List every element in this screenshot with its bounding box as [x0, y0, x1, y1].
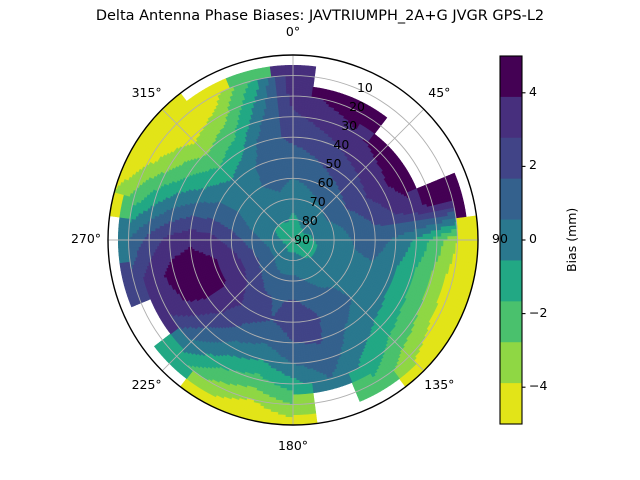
colorbar-tick-label-2: 0 [529, 231, 537, 246]
colorbar-tick-label-4: −4 [529, 378, 547, 393]
elevation-label-80: 80 [302, 213, 318, 228]
colorbar-band [500, 179, 522, 220]
elevation-label-20: 20 [349, 99, 365, 114]
figure-canvas: Delta Antenna Phase Biases: JAVTRIUMPH_2… [0, 0, 640, 480]
colorbar-band [500, 301, 522, 342]
azimuth-label-315: 315° [132, 85, 162, 100]
colorbar-band [500, 56, 522, 97]
colorbar-axis-title: Bias (mm) [564, 208, 579, 272]
azimuth-label-45: 45° [428, 85, 450, 100]
colorbar-tick-label-1: 2 [529, 157, 537, 172]
elevation-label-90: 90 [294, 232, 310, 247]
colorbar-band [500, 97, 522, 138]
azimuth-label-225: 225° [132, 377, 162, 392]
colorbar-band [500, 138, 522, 179]
elevation-label-60: 60 [318, 175, 334, 190]
elevation-label-50: 50 [326, 156, 342, 171]
page-title: Delta Antenna Phase Biases: JAVTRIUMPH_2… [0, 8, 640, 24]
elevation-label-40: 40 [333, 137, 349, 152]
elevation-label-30: 30 [341, 118, 357, 133]
azimuth-label-0: 0° [286, 24, 300, 39]
azimuth-label-270: 270° [71, 231, 101, 246]
colorbar-band [500, 383, 522, 424]
elevation-label-70: 70 [310, 194, 326, 209]
azimuth-label-90: 90 [492, 231, 508, 246]
azimuth-label-180: 180° [278, 438, 308, 453]
polar-grid [108, 55, 478, 425]
colorbar-band [500, 342, 522, 383]
elevation-label-10: 10 [357, 80, 373, 95]
colorbar-band [500, 260, 522, 301]
azimuth-label-135: 135° [424, 377, 454, 392]
colorbar-tick-label-3: −2 [529, 305, 547, 320]
colorbar-tick-label-0: 4 [529, 84, 537, 99]
